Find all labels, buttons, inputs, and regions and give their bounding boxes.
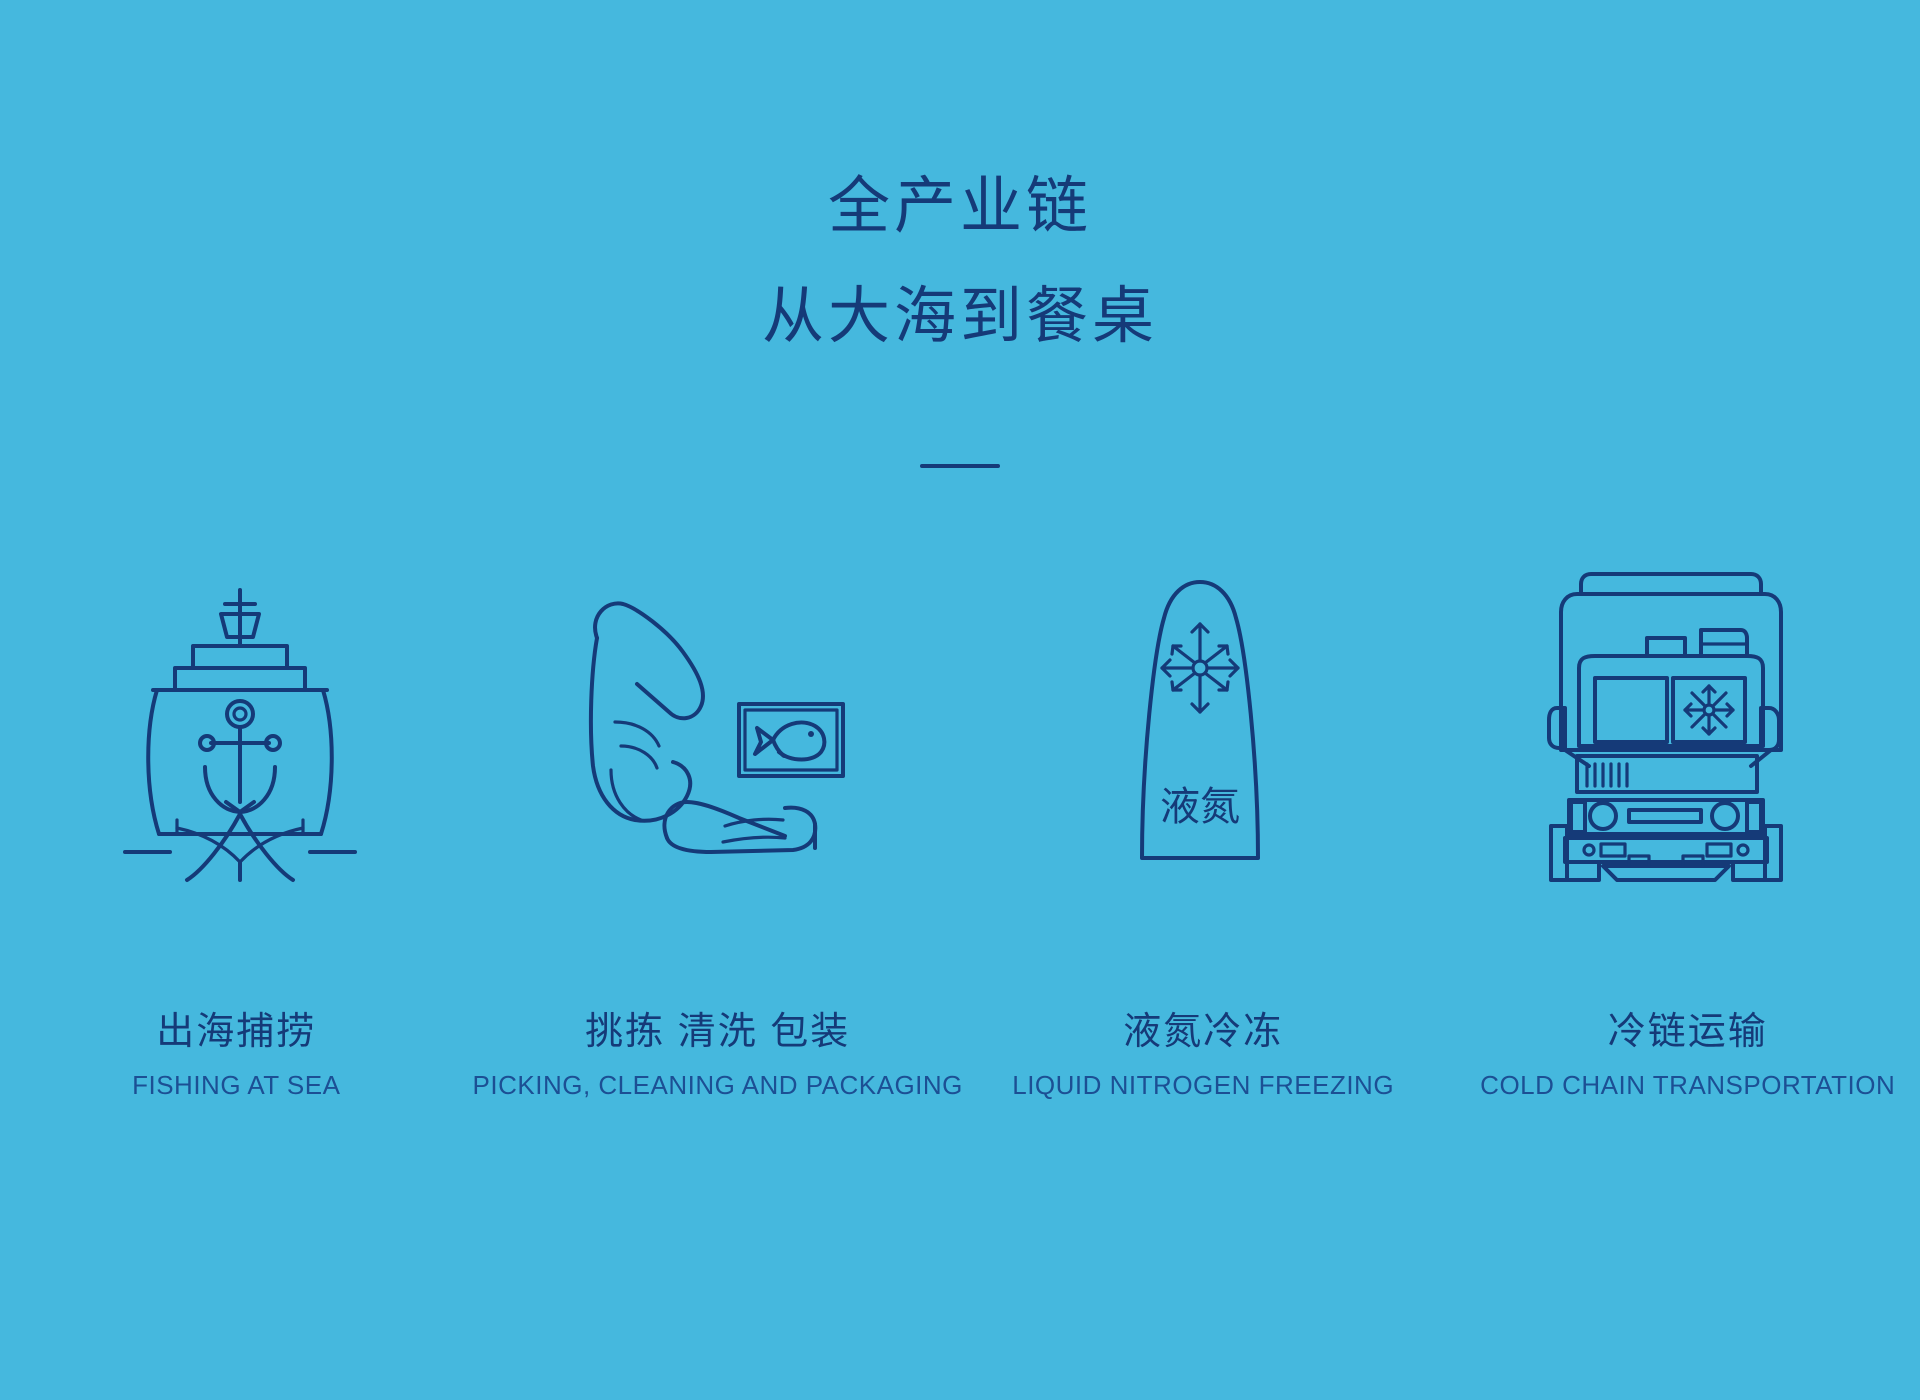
- page-root: 全产业链 从大海到餐桌: [0, 0, 1920, 1400]
- process-caption-row: 出海捕捞 FISHING AT SEA 挑拣 清洗 包装 PICKING, CL…: [0, 1010, 1920, 1101]
- step-4-icon-box: [1555, 520, 1805, 880]
- process-icon-row: 液氮: [0, 520, 1920, 880]
- step-2[interactable]: [480, 520, 960, 880]
- caption-step-1-cn: 出海捕捞: [0, 1010, 475, 1056]
- caption-step-1-en: FISHING AT SEA: [0, 1070, 475, 1101]
- caption-step-4: 冷链运输 COLD CHAIN TRANSPORTATION: [1449, 1010, 1920, 1101]
- liquid-nitrogen-tank-icon: 液氮: [1130, 560, 1270, 880]
- step-2-icon-box: [575, 520, 865, 880]
- title-divider-wrap: [0, 464, 1920, 468]
- refrigerated-truck-icon: [1555, 560, 1805, 880]
- caption-step-3: 液氮冷冻 LIQUID NITROGEN FREEZING: [965, 1010, 1442, 1101]
- caption-step-1: 出海捕捞 FISHING AT SEA: [0, 1010, 475, 1101]
- snowflake-icon: [1685, 686, 1733, 734]
- caption-step-2-en: PICKING, CLEANING AND PACKAGING: [473, 1070, 963, 1101]
- step-3[interactable]: 液氮: [960, 520, 1440, 880]
- fishing-boat-with-anchor-icon: [125, 580, 355, 880]
- page-title: 全产业链 从大海到餐桌: [0, 176, 1920, 348]
- title-line-2: 从大海到餐桌: [0, 286, 1920, 348]
- caption-step-3-cn: 液氮冷冻: [965, 1010, 1442, 1056]
- step-1[interactable]: [0, 520, 480, 880]
- caption-step-4-en: COLD CHAIN TRANSPORTATION: [1449, 1070, 1920, 1101]
- caption-step-2-cn: 挑拣 清洗 包装: [473, 1010, 963, 1056]
- step-1-icon-box: [125, 520, 355, 880]
- step-4[interactable]: [1440, 520, 1920, 880]
- snowflake-icon: [1162, 624, 1238, 712]
- title-divider: [920, 464, 1000, 468]
- tank-label: 液氮: [1160, 785, 1240, 829]
- caption-step-3-en: LIQUID NITROGEN FREEZING: [965, 1070, 1442, 1101]
- title-line-1: 全产业链: [0, 176, 1920, 238]
- caption-step-4-cn: 冷链运输: [1449, 1010, 1920, 1056]
- step-3-icon-box: 液氮: [1130, 520, 1270, 880]
- hands-sorting-packaged-fish-icon: [575, 580, 865, 880]
- caption-step-2: 挑拣 清洗 包装 PICKING, CLEANING AND PACKAGING: [473, 1010, 963, 1101]
